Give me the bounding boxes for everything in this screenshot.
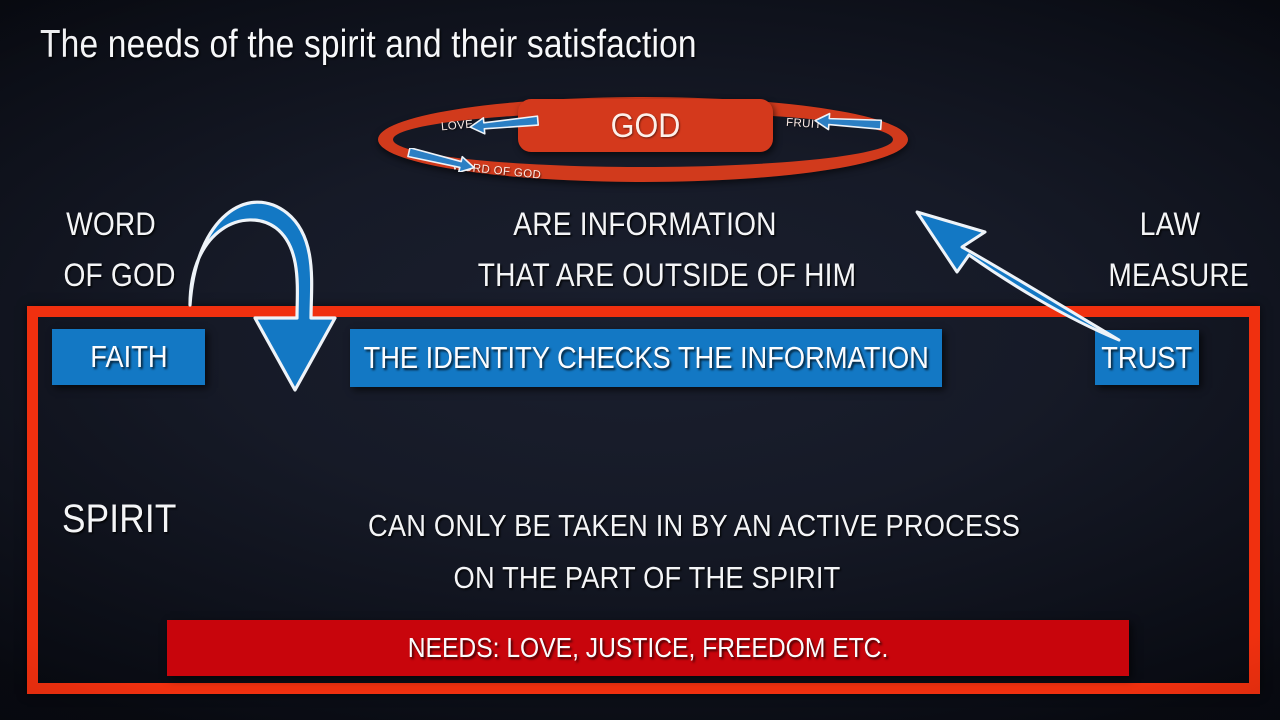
word-of-god-right-arrow-icon <box>405 148 477 172</box>
love-left-arrow-icon <box>468 113 542 135</box>
box-faith[interactable]: FAITH <box>52 329 205 385</box>
label-spirit: SPIRIT <box>62 494 176 544</box>
label-word-of-god: WORD OF GOD <box>63 199 158 301</box>
box-identity-checks-information[interactable]: THE IDENTITY CHECKS THE INFORMATION <box>350 329 942 387</box>
slide-canvas: The needs of the spirit and their satisf… <box>0 0 1280 720</box>
page-title: The needs of the spirit and their satisf… <box>40 21 697 69</box>
god-node-label: GOD <box>531 100 761 153</box>
label-are-information: ARE INFORMATION THAT ARE OUTSIDE OF HIM <box>478 199 812 301</box>
box-faith-label: FAITH <box>90 339 167 375</box>
box-trust-label: TRUST <box>1102 340 1193 376</box>
box-trust[interactable]: TRUST <box>1095 330 1199 385</box>
label-law-measure: LAW MEASURE <box>1108 199 1231 301</box>
label-active-process: CAN ONLY BE TAKEN IN BY AN ACTIVE PROCES… <box>368 500 926 604</box>
box-identity-label: THE IDENTITY CHECKS THE INFORMATION <box>363 340 928 376</box>
needs-bar-label: NEEDS: LOVE, JUSTICE, FREEDOM ETC. <box>408 632 889 664</box>
fruit-left-arrow-icon <box>813 112 885 134</box>
needs-bar: NEEDS: LOVE, JUSTICE, FREEDOM ETC. <box>167 620 1129 676</box>
